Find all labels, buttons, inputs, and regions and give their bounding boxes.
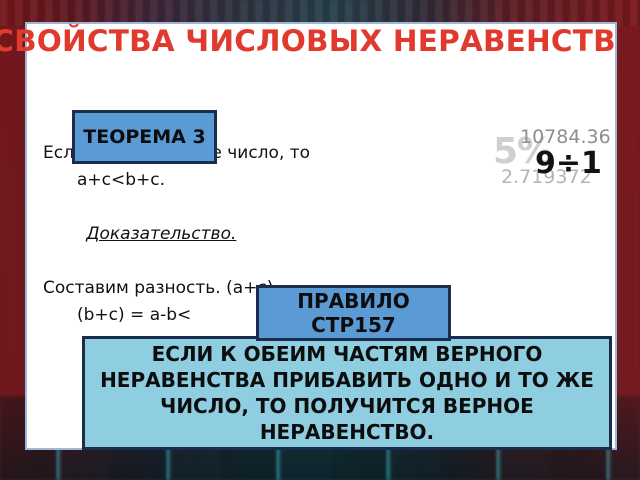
slide-stage: 5% 10784.36 2.719372 9÷1 Если a<b, c – л… <box>0 0 640 480</box>
statement-text: ЕСЛИ К ОБЕИМ ЧАСТЯМ ВЕРНОГО НЕРАВЕНСТВА … <box>95 341 599 445</box>
proof-label: Доказательство. <box>86 221 236 248</box>
page-title: СВОЙСТВА ЧИСЛОВЫХ НЕРАВЕНСТВ <box>0 24 634 58</box>
statement-box: ЕСЛИ К ОБЕИМ ЧАСТЯМ ВЕРНОГО НЕРАВЕНСТВА … <box>82 336 612 450</box>
slide-canvas: 5% 10784.36 2.719372 9÷1 Если a<b, c – л… <box>25 22 617 450</box>
percent-watermark: 5% <box>493 131 552 172</box>
number-watermark-bottom: 2.719372 <box>501 166 592 188</box>
number-watermark-top: 10784.36 <box>520 126 611 148</box>
division-expression-watermark: 9÷1 <box>535 146 602 181</box>
proof-label-wrapper: Доказательство. <box>43 194 443 275</box>
theorem-badge: ТЕОРЕМА 3 <box>72 110 217 164</box>
proof-conclusion-line: a+c<b+c. <box>43 167 443 194</box>
theorem-badge-label: ТЕОРЕМА 3 <box>83 126 205 149</box>
rule-badge: ПРАВИЛО СТР157 <box>256 285 451 341</box>
rule-badge-label: ПРАВИЛО СТР157 <box>265 289 442 337</box>
